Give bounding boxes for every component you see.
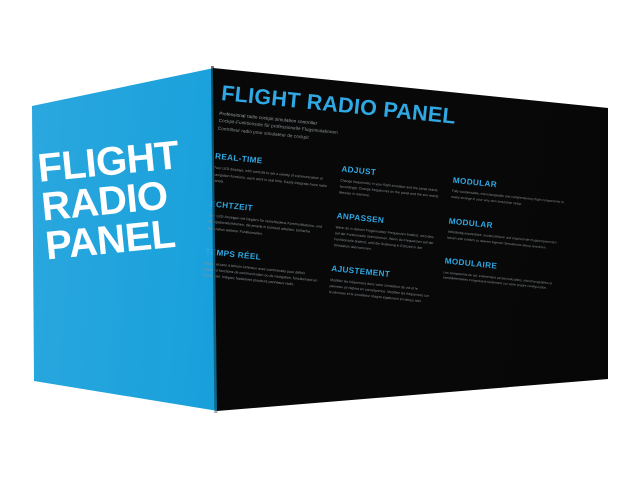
feature-columns: REAL-TIME Four LED displays, with contro… [201, 153, 596, 338]
feature-column-2: ADJUST Change frequencies in your flight… [327, 166, 453, 323]
feature-block-real-time: REAL-TIME Four LED displays, with contro… [212, 153, 331, 196]
feature-block-modular-de: MODULAR Vollständig anpassbare, austausc… [447, 217, 566, 252]
feature-column-3: MODULAR Fully customisable, interchangea… [438, 177, 580, 336]
product-box-scene: FLIGHT RADIO PANEL FLIGHT RADIO PANEL Pr… [0, 0, 640, 480]
front-panel-content: FLIGHT RADIO PANEL Professional radio co… [179, 68, 611, 443]
feature-column-1: REAL-TIME Four LED displays, with contro… [201, 153, 342, 312]
feature-block-adjust: ADJUST Change frequencies in your flight… [339, 166, 443, 206]
feature-block-ajustement: AJUSTEMENT Modifiez les fréquences dans … [329, 265, 433, 305]
feature-block-modular-en: MODULAR Fully customisable, interchangea… [451, 177, 570, 212]
feature-block-modulaire-fr: MODULAIRE Les composants de vol, entière… [443, 258, 562, 293]
feature-block-echtzeit: ECHTZEIT Vier LED-Anzeigen mit Reglern f… [207, 200, 326, 243]
feature-block-temps-reel: TEMPS RÉEL Quatre écrans à témoin lumine… [203, 248, 322, 291]
feature-body: Wenn du in deinem Flugsimulator Frequenz… [333, 224, 436, 258]
feature-block-anpassen: ANPASSEN Wenn du in deinem Flugsimulator… [333, 212, 437, 259]
